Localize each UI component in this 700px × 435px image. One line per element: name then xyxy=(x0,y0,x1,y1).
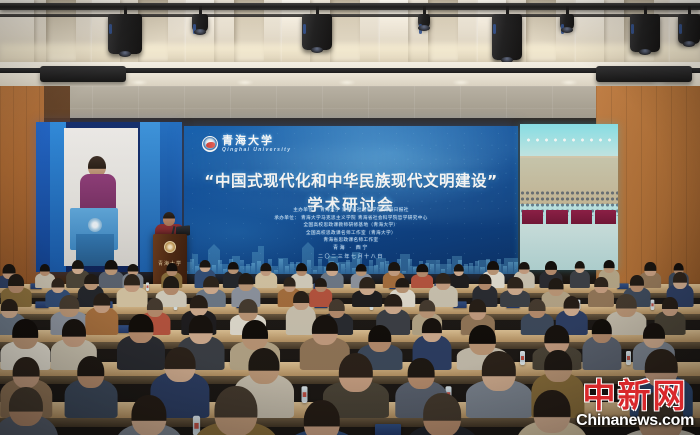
audience-member-head xyxy=(519,262,530,274)
audience-member-head xyxy=(129,314,154,343)
audience-member-head xyxy=(13,357,40,388)
audience-member xyxy=(64,356,117,418)
audience-member xyxy=(194,386,277,435)
ceiling-projector xyxy=(40,66,126,82)
audience-member-head xyxy=(645,349,677,387)
audience-member xyxy=(617,391,700,435)
audience-member-head xyxy=(8,387,42,427)
water-bottle xyxy=(651,299,655,309)
audience-member-head xyxy=(239,299,258,321)
audience-member-head xyxy=(529,299,546,319)
ceiling-downlight-icon xyxy=(130,80,148,85)
audience-member-head xyxy=(385,294,403,314)
university-name-cn: 青海大学 xyxy=(222,135,291,146)
audience-member-head xyxy=(326,262,338,276)
university-name-en: Qinghai University xyxy=(222,148,291,153)
audience-member-head xyxy=(1,299,17,318)
audience-member xyxy=(582,319,621,370)
audience-member-head xyxy=(339,353,373,393)
led-screen-venue-wide xyxy=(520,124,618,270)
audience-member-head xyxy=(164,347,195,383)
audience-member-head xyxy=(408,358,435,389)
audience-member-head xyxy=(356,264,367,276)
university-crest-icon xyxy=(202,136,218,152)
audience-member-head xyxy=(544,350,572,382)
audience-member-head xyxy=(293,291,309,309)
audience-member-head xyxy=(242,320,268,350)
audience-member xyxy=(0,387,58,435)
audience-member-head xyxy=(638,391,683,435)
audience-area xyxy=(0,262,700,435)
ceiling xyxy=(0,0,700,62)
banner-university-logo: 青海大学 Qinghai University xyxy=(202,135,291,153)
main-stage-banner: 青海大学 Qinghai University “中国式现代化和中华民族现代文明… xyxy=(184,126,518,274)
audience-member-head xyxy=(424,393,462,435)
audience-member-head xyxy=(203,276,219,294)
audience-member-head xyxy=(51,278,64,293)
conference-hall-photo: 青海大学 Qinghai University “中国式现代化和中华民族现代文明… xyxy=(0,0,700,435)
audience-member-head xyxy=(311,315,337,345)
audience-member-head xyxy=(469,299,487,320)
audience-member-head xyxy=(673,272,687,288)
audience-member-head xyxy=(93,293,110,313)
audience-member-head xyxy=(62,319,86,347)
audience-member-head xyxy=(545,261,557,275)
audience-member-head xyxy=(487,261,499,275)
audience-member-head xyxy=(166,263,177,276)
audience-member-head xyxy=(482,351,516,391)
audience-member-head xyxy=(420,300,436,318)
audience-member-head xyxy=(72,260,84,274)
audience-member-head xyxy=(77,356,104,388)
audience-member xyxy=(115,395,183,435)
audience-member-head xyxy=(368,325,391,352)
banner-organizer-line: 全国高校思政课教师研修基地（青海大学） xyxy=(184,222,518,230)
audience-member-head xyxy=(549,278,564,295)
audience-member-head xyxy=(396,278,409,293)
audience-member-head xyxy=(563,296,580,316)
audience-member-head xyxy=(283,277,296,292)
audience-member-head xyxy=(189,315,213,343)
audience-member-head xyxy=(261,263,272,276)
audience-member-head xyxy=(40,264,50,276)
audience-member-head xyxy=(436,273,451,290)
audience-member xyxy=(517,390,588,435)
banner-organizer-line: 全国高校思政课名师工作室（青海大学） xyxy=(184,230,518,238)
audience-member-head xyxy=(591,319,611,343)
audience-member-head xyxy=(534,390,571,433)
screen-venue-ceiling-lights xyxy=(524,136,614,144)
audience-member xyxy=(570,261,590,288)
lighting-truss-secondary xyxy=(0,14,700,17)
audience-member-head xyxy=(13,319,39,349)
audience-member-head xyxy=(84,274,98,290)
audience-member-head xyxy=(388,262,400,276)
audience-member-head xyxy=(359,277,375,295)
audience-member-head xyxy=(616,294,636,318)
ceiling-downlight-icon xyxy=(560,80,578,85)
audience-member-head xyxy=(604,260,615,273)
audience-member-head xyxy=(238,273,253,291)
audience-member-head xyxy=(163,276,179,294)
lighting-truss xyxy=(0,3,700,10)
audience-member-head xyxy=(132,395,167,435)
audience-member-head xyxy=(199,260,210,273)
audience-member xyxy=(286,400,356,435)
audience-member-head xyxy=(296,263,308,277)
audience-member-head xyxy=(249,348,280,384)
delegate-name-card xyxy=(375,424,401,435)
audience-member-head xyxy=(9,274,25,292)
audience-member-head xyxy=(190,295,208,316)
ceiling-downlight-icon xyxy=(452,80,470,85)
audience-member-head xyxy=(643,323,665,349)
audience-member-head xyxy=(60,295,79,317)
audience-member-head xyxy=(478,274,491,289)
audience-member-head xyxy=(422,318,442,341)
audience-member-head xyxy=(105,260,118,275)
audience-member-head xyxy=(662,297,678,316)
audience-member-head xyxy=(315,278,327,292)
audience-member-head xyxy=(630,275,644,291)
screen-podium-emblem-icon xyxy=(88,218,102,232)
audience-member-head xyxy=(417,264,428,277)
audience-member-head xyxy=(645,262,656,275)
ceiling-projector xyxy=(596,66,692,82)
banner-organizer-line: 承办单位： 青海大学马克思主义学院 青海省社会科学院哲学研究中心 xyxy=(184,215,518,223)
audience-member-head xyxy=(214,386,257,435)
audience-member xyxy=(406,393,479,435)
audience-member-head xyxy=(508,277,524,295)
audience-member-head xyxy=(594,277,608,293)
audience-member-head xyxy=(303,400,339,435)
university-emblem-icon xyxy=(164,241,176,253)
banner-title-line1: “中国式现代化和中华民族现代文明建设” xyxy=(184,169,518,191)
ceiling-downlight-icon xyxy=(338,80,356,85)
speaker-head xyxy=(163,212,175,226)
audience-member-head xyxy=(124,274,140,293)
ceiling-downlight-icon xyxy=(236,80,254,85)
banner-organizer-line: 主办单位： 青海大学 青海省社会科学院 青海日报社 xyxy=(184,207,518,215)
